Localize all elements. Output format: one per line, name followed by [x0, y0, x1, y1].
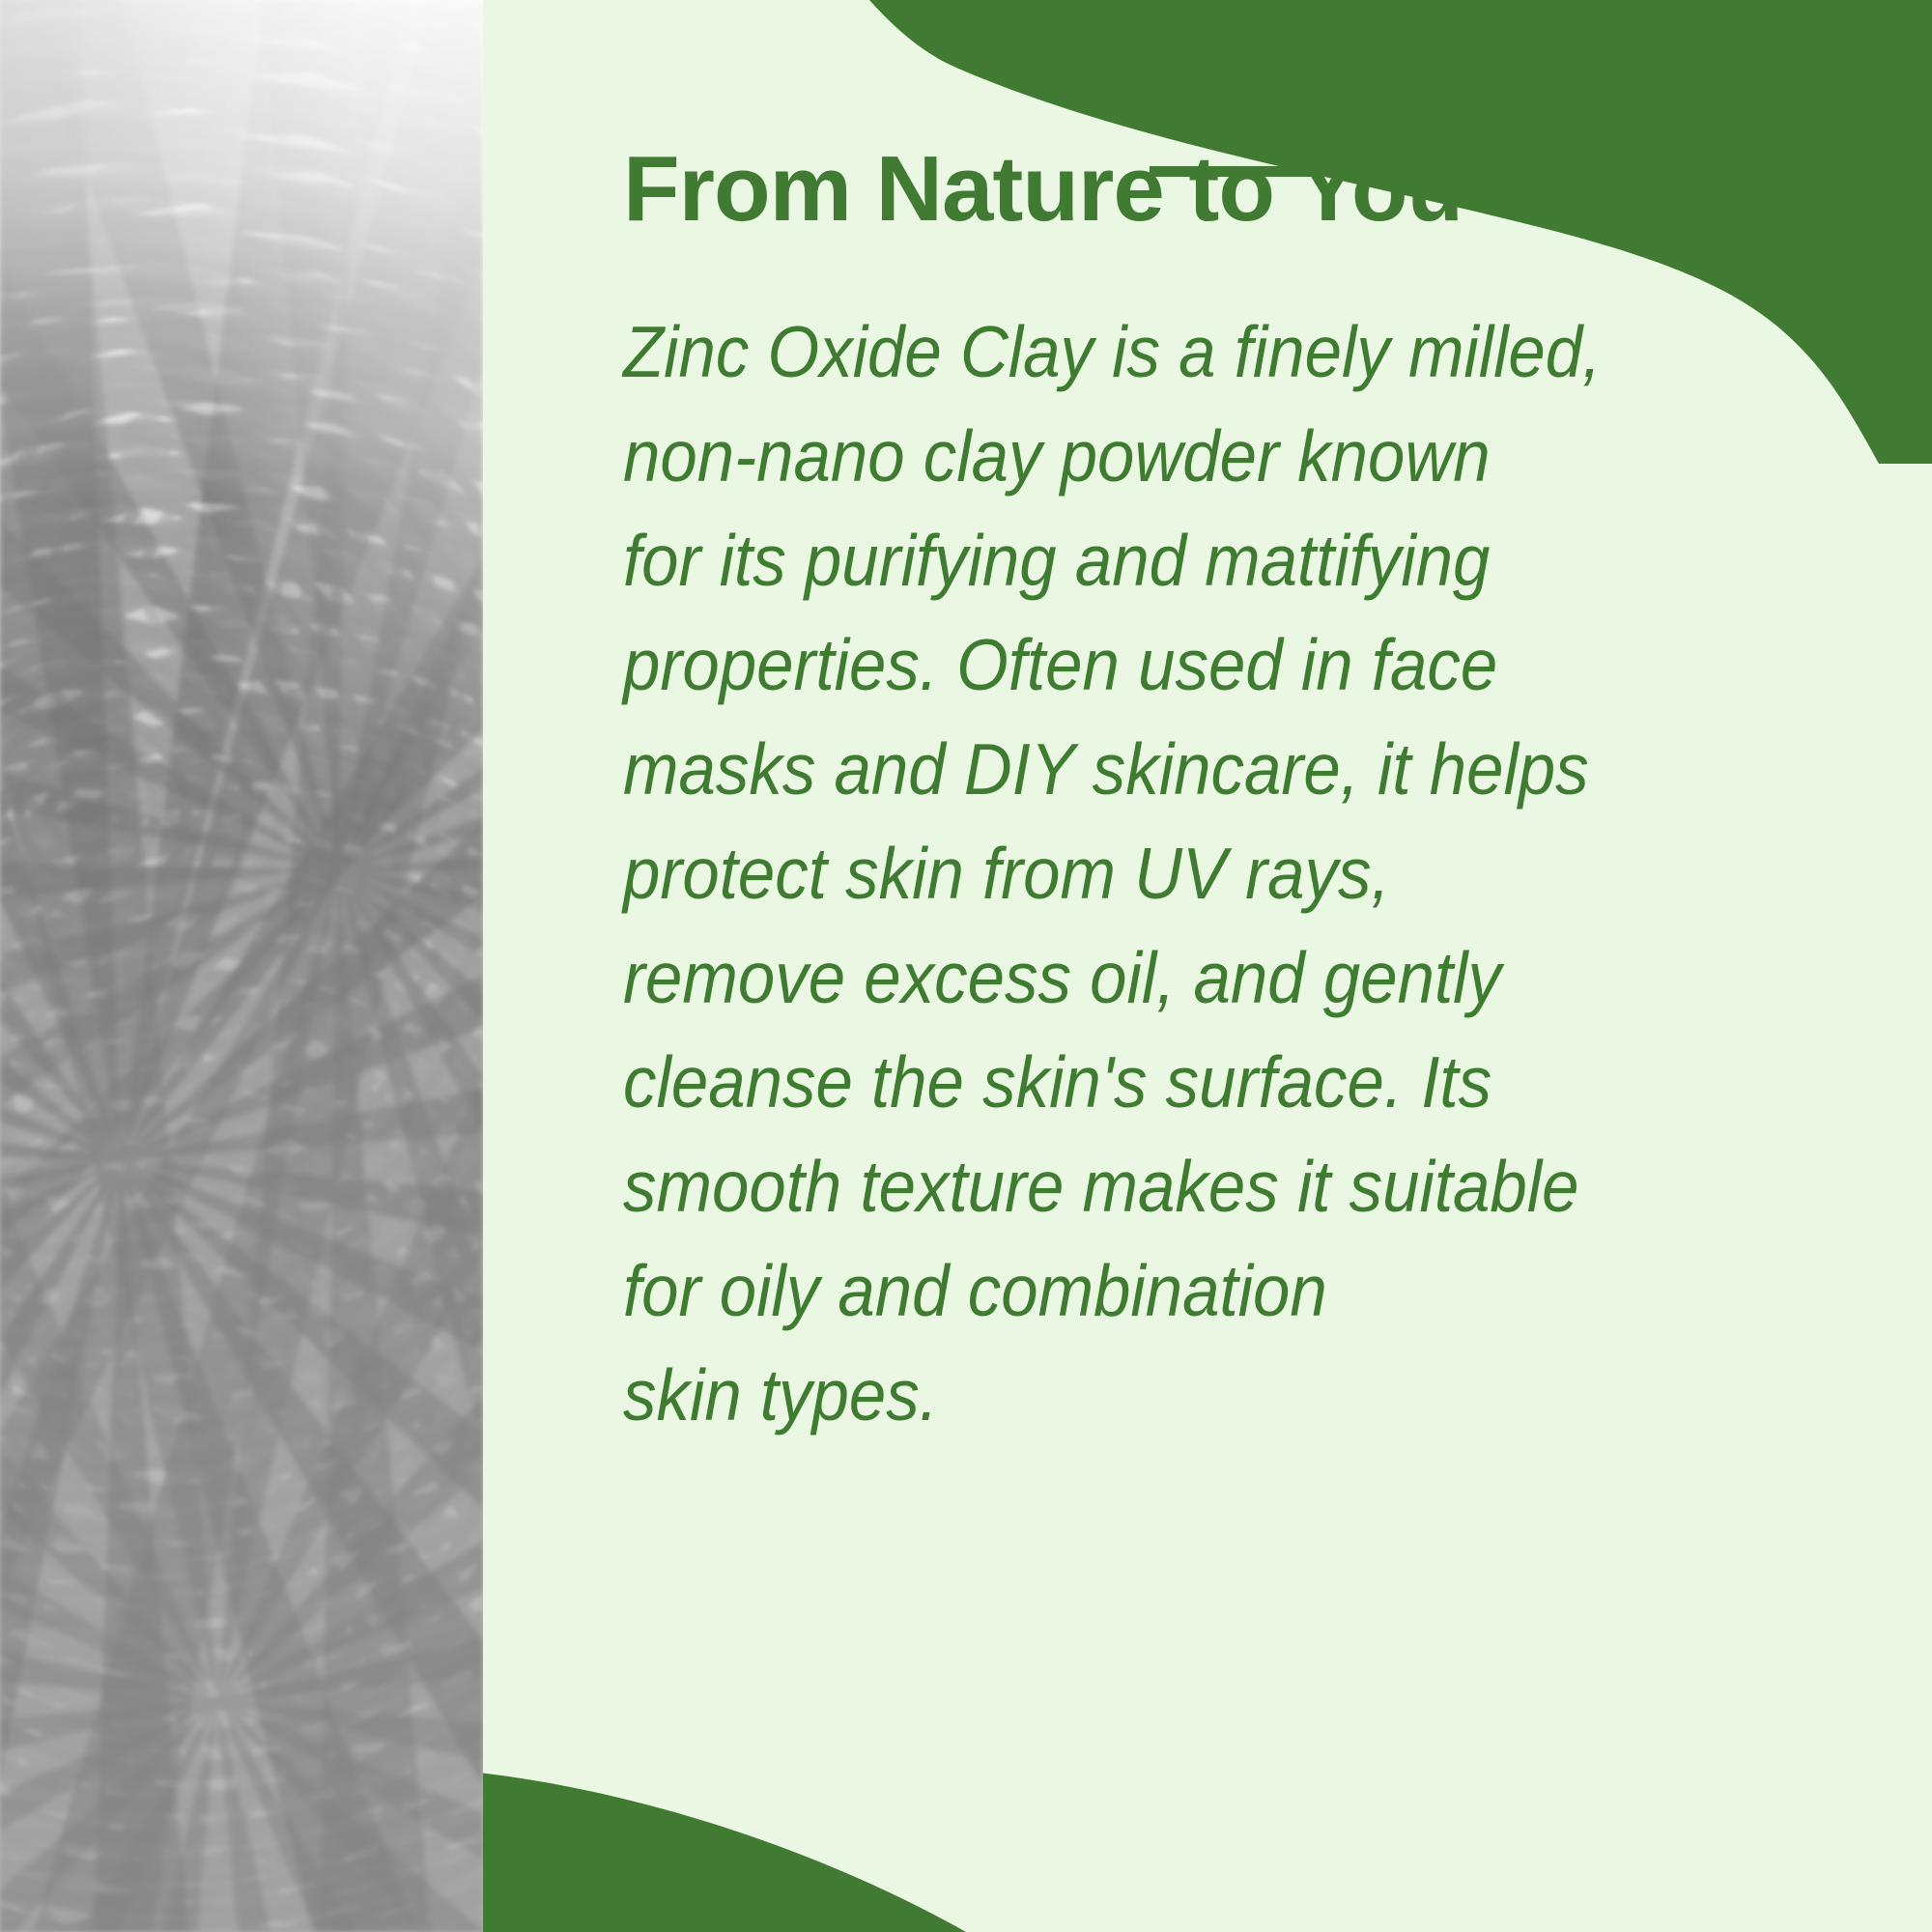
body-line: cleanse the skin's surface. Its — [623, 1030, 1867, 1134]
title-block: From Nature to You — [623, 143, 1879, 236]
body-line: protect skin from UV rays, — [623, 821, 1867, 925]
body-line: remove excess oil, and gently — [623, 925, 1867, 1030]
body-line: for oily and combination — [623, 1238, 1867, 1343]
page-title: From Nature to You — [623, 143, 1879, 236]
clay-powder-texture-photo — [0, 0, 483, 1932]
body-line: masks and DIY skincare, it helps — [623, 717, 1867, 821]
texture-horizontal-ramp — [0, 0, 483, 1932]
body-paragraph: Zinc Oxide Clay is a finely milled, non-… — [623, 299, 1932, 1447]
body-line: for its purifying and mattifying — [623, 508, 1867, 612]
body-line: skin types. — [623, 1343, 1867, 1447]
content-column: From Nature to You Zinc Oxide Clay is a … — [483, 0, 1932, 1932]
body-line: properties. Often used in face — [623, 612, 1867, 717]
title-underline-rule — [1150, 166, 1932, 177]
body-line: non-nano clay powder known — [623, 404, 1867, 508]
body-line: smooth texture makes it suitable — [623, 1134, 1867, 1238]
body-line: Zinc Oxide Clay is a finely milled, — [623, 299, 1867, 404]
slide-canvas: From Nature to You Zinc Oxide Clay is a … — [0, 0, 1932, 1932]
